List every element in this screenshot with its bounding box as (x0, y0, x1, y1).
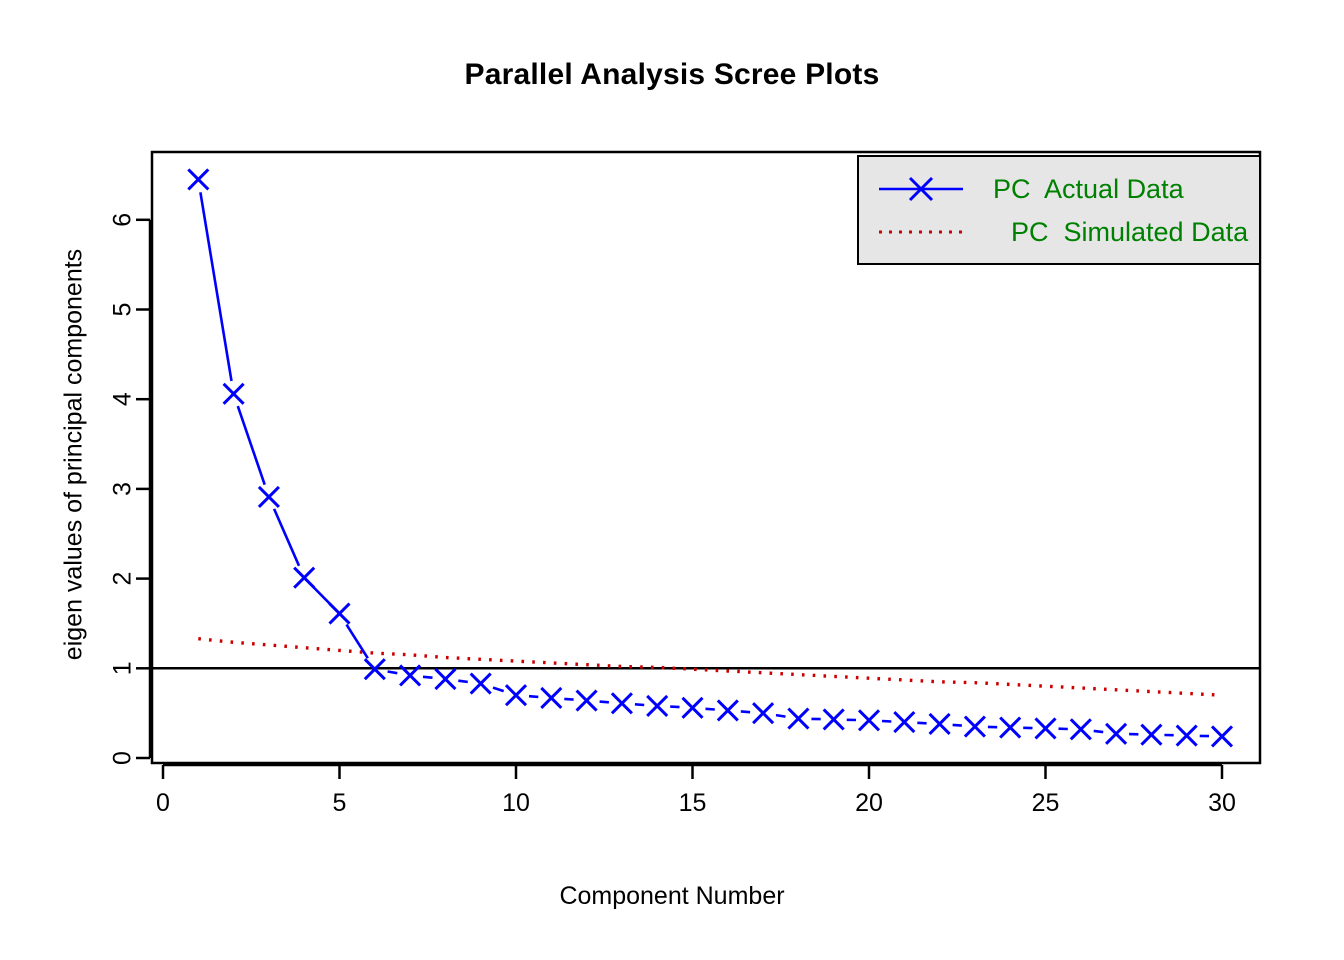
series-segment-actual (529, 696, 538, 697)
legend-key-simulated-dotted-icon (877, 217, 965, 247)
data-point-actual-23 (965, 717, 985, 737)
y-tick-label-1: 1 (109, 661, 137, 675)
y-tick-label-2: 2 (109, 572, 137, 586)
data-point-actual-20 (859, 710, 879, 730)
series-segment-actual (1094, 731, 1104, 732)
data-point-actual-19 (824, 709, 844, 729)
x-tick-label-0: 0 (156, 789, 170, 817)
legend-label-actual: PC Actual Data (993, 174, 1184, 205)
data-point-actual-26 (1071, 719, 1091, 739)
data-point-actual-22 (930, 714, 950, 734)
data-point-actual-11 (541, 688, 561, 708)
plot-area: 0123456051015202530 (0, 0, 1344, 960)
series-segment-actual (741, 711, 750, 712)
data-point-actual-28 (1141, 725, 1161, 745)
x-tick-label-5: 5 (333, 789, 347, 817)
data-point-actual-5 (330, 604, 350, 624)
data-point-actual-21 (894, 712, 914, 732)
series-segment-actual (347, 625, 368, 659)
data-point-actual-8 (435, 669, 455, 689)
series-segment-actual (600, 702, 609, 703)
legend-item-actual: PC Actual Data (877, 169, 1184, 209)
data-point-actual-24 (1000, 718, 1020, 738)
data-point-actual-12 (577, 691, 597, 711)
legend-label-simulated: PC Simulated Data (1011, 217, 1248, 248)
data-point-actual-10 (506, 685, 526, 705)
data-point-actual-30 (1212, 726, 1232, 746)
series-segment-actual (917, 723, 926, 724)
data-point-actual-15 (683, 698, 703, 718)
data-point-actual-9 (471, 674, 491, 694)
series-segment-actual (776, 715, 786, 717)
y-tick-label-3: 3 (109, 482, 137, 496)
series-line-simulated (198, 639, 1222, 696)
series-segment-actual (388, 672, 398, 674)
data-point-actual-17 (753, 703, 773, 723)
series-segment-actual (458, 681, 468, 682)
series-segment-actual (635, 704, 644, 705)
legend-key-actual-line-x-icon (877, 174, 965, 204)
y-tick-label-6: 6 (109, 213, 137, 227)
series-segment-actual (493, 688, 504, 692)
data-point-actual-29 (1177, 726, 1197, 746)
series-segment-actual (274, 509, 299, 566)
data-point-actual-16 (718, 700, 738, 720)
series-segment-actual (564, 699, 573, 700)
y-tick-label-5: 5 (109, 303, 137, 317)
legend-item-simulated: PC Simulated Data (877, 212, 1248, 252)
data-point-actual-4 (294, 568, 314, 588)
data-point-actual-3 (259, 487, 279, 507)
data-point-actual-14 (647, 696, 667, 716)
series-segment-actual (200, 192, 231, 381)
data-point-actual-27 (1106, 724, 1126, 744)
series-segment-actual (423, 677, 433, 678)
chart-canvas: Parallel Analysis Scree Plots eigen valu… (0, 0, 1344, 960)
y-tick-label-4: 4 (109, 392, 137, 406)
x-tick-label-30: 30 (1208, 789, 1236, 817)
y-tick-label-0: 0 (109, 751, 137, 765)
x-tick-label-10: 10 (502, 789, 530, 817)
data-point-actual-25 (1036, 718, 1056, 738)
x-tick-label-25: 25 (1032, 789, 1060, 817)
series-segment-actual (313, 587, 330, 604)
legend: PC Actual Data PC Simulated Data (857, 155, 1261, 265)
x-tick-label-20: 20 (855, 789, 883, 817)
series-segment-actual (238, 406, 265, 485)
data-point-actual-1 (188, 169, 208, 189)
data-point-actual-18 (788, 709, 808, 729)
series-segment-actual (953, 725, 962, 726)
series-segment-actual (670, 707, 679, 708)
series-segment-actual (882, 721, 891, 722)
data-point-actual-2 (224, 384, 244, 404)
data-point-actual-13 (612, 693, 632, 713)
x-tick-label-15: 15 (679, 789, 707, 817)
series-segment-actual (706, 709, 715, 710)
